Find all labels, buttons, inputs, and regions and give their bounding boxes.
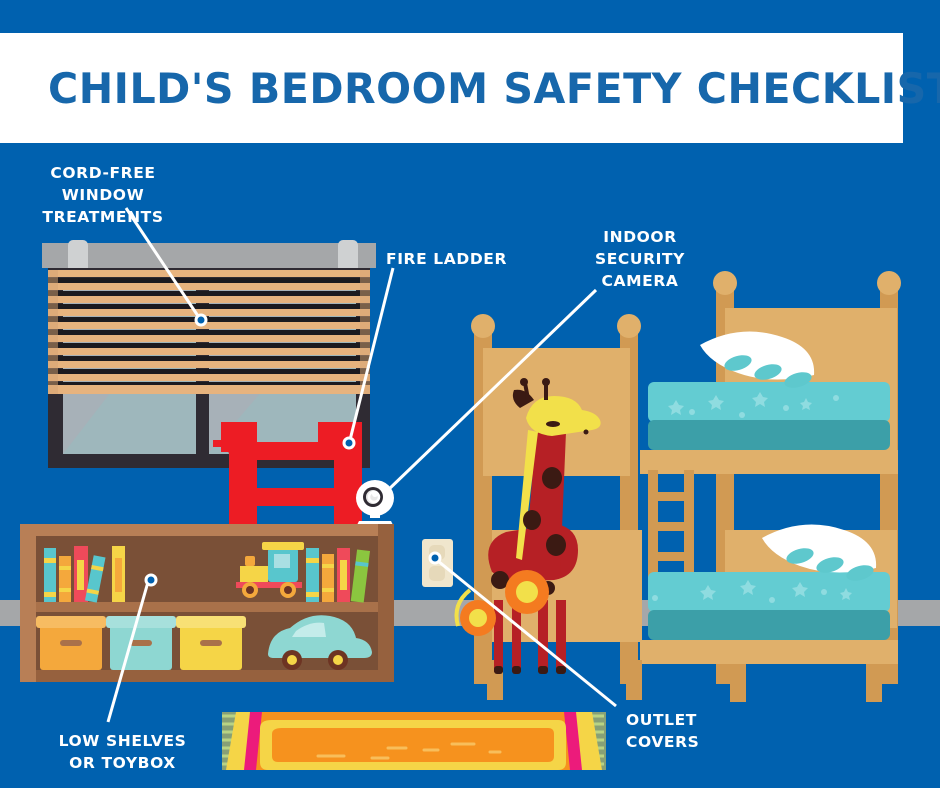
blind-slats <box>48 270 370 394</box>
callout-label-fire-ladder: FIRE LADDER <box>386 248 546 270</box>
title-bar: CHILD'S BEDROOM SAFETY CHECKLIST <box>0 33 903 143</box>
infographic-canvas: CHILD'S BEDROOM SAFETY CHECKLIST CORD-FR… <box>0 0 940 788</box>
storage-boxes <box>36 616 246 670</box>
callout-label-low-shelves-or-toybox: LOW SHELVES OR TOYBOX <box>30 730 215 774</box>
low-bookshelf-with-toys <box>20 524 394 682</box>
area-rug <box>222 712 606 770</box>
callout-label-cord-free-window-treatments: CORD-FREE WINDOW TREATMENTS <box>12 162 194 228</box>
callout-label-outlet-covers: OUTLET COVERS <box>626 709 766 753</box>
page-title: CHILD'S BEDROOM SAFETY CHECKLIST <box>48 64 940 113</box>
shelf-books-right <box>306 548 370 603</box>
callout-label-indoor-security-camera: INDOOR SECURITY CAMERA <box>580 226 700 292</box>
